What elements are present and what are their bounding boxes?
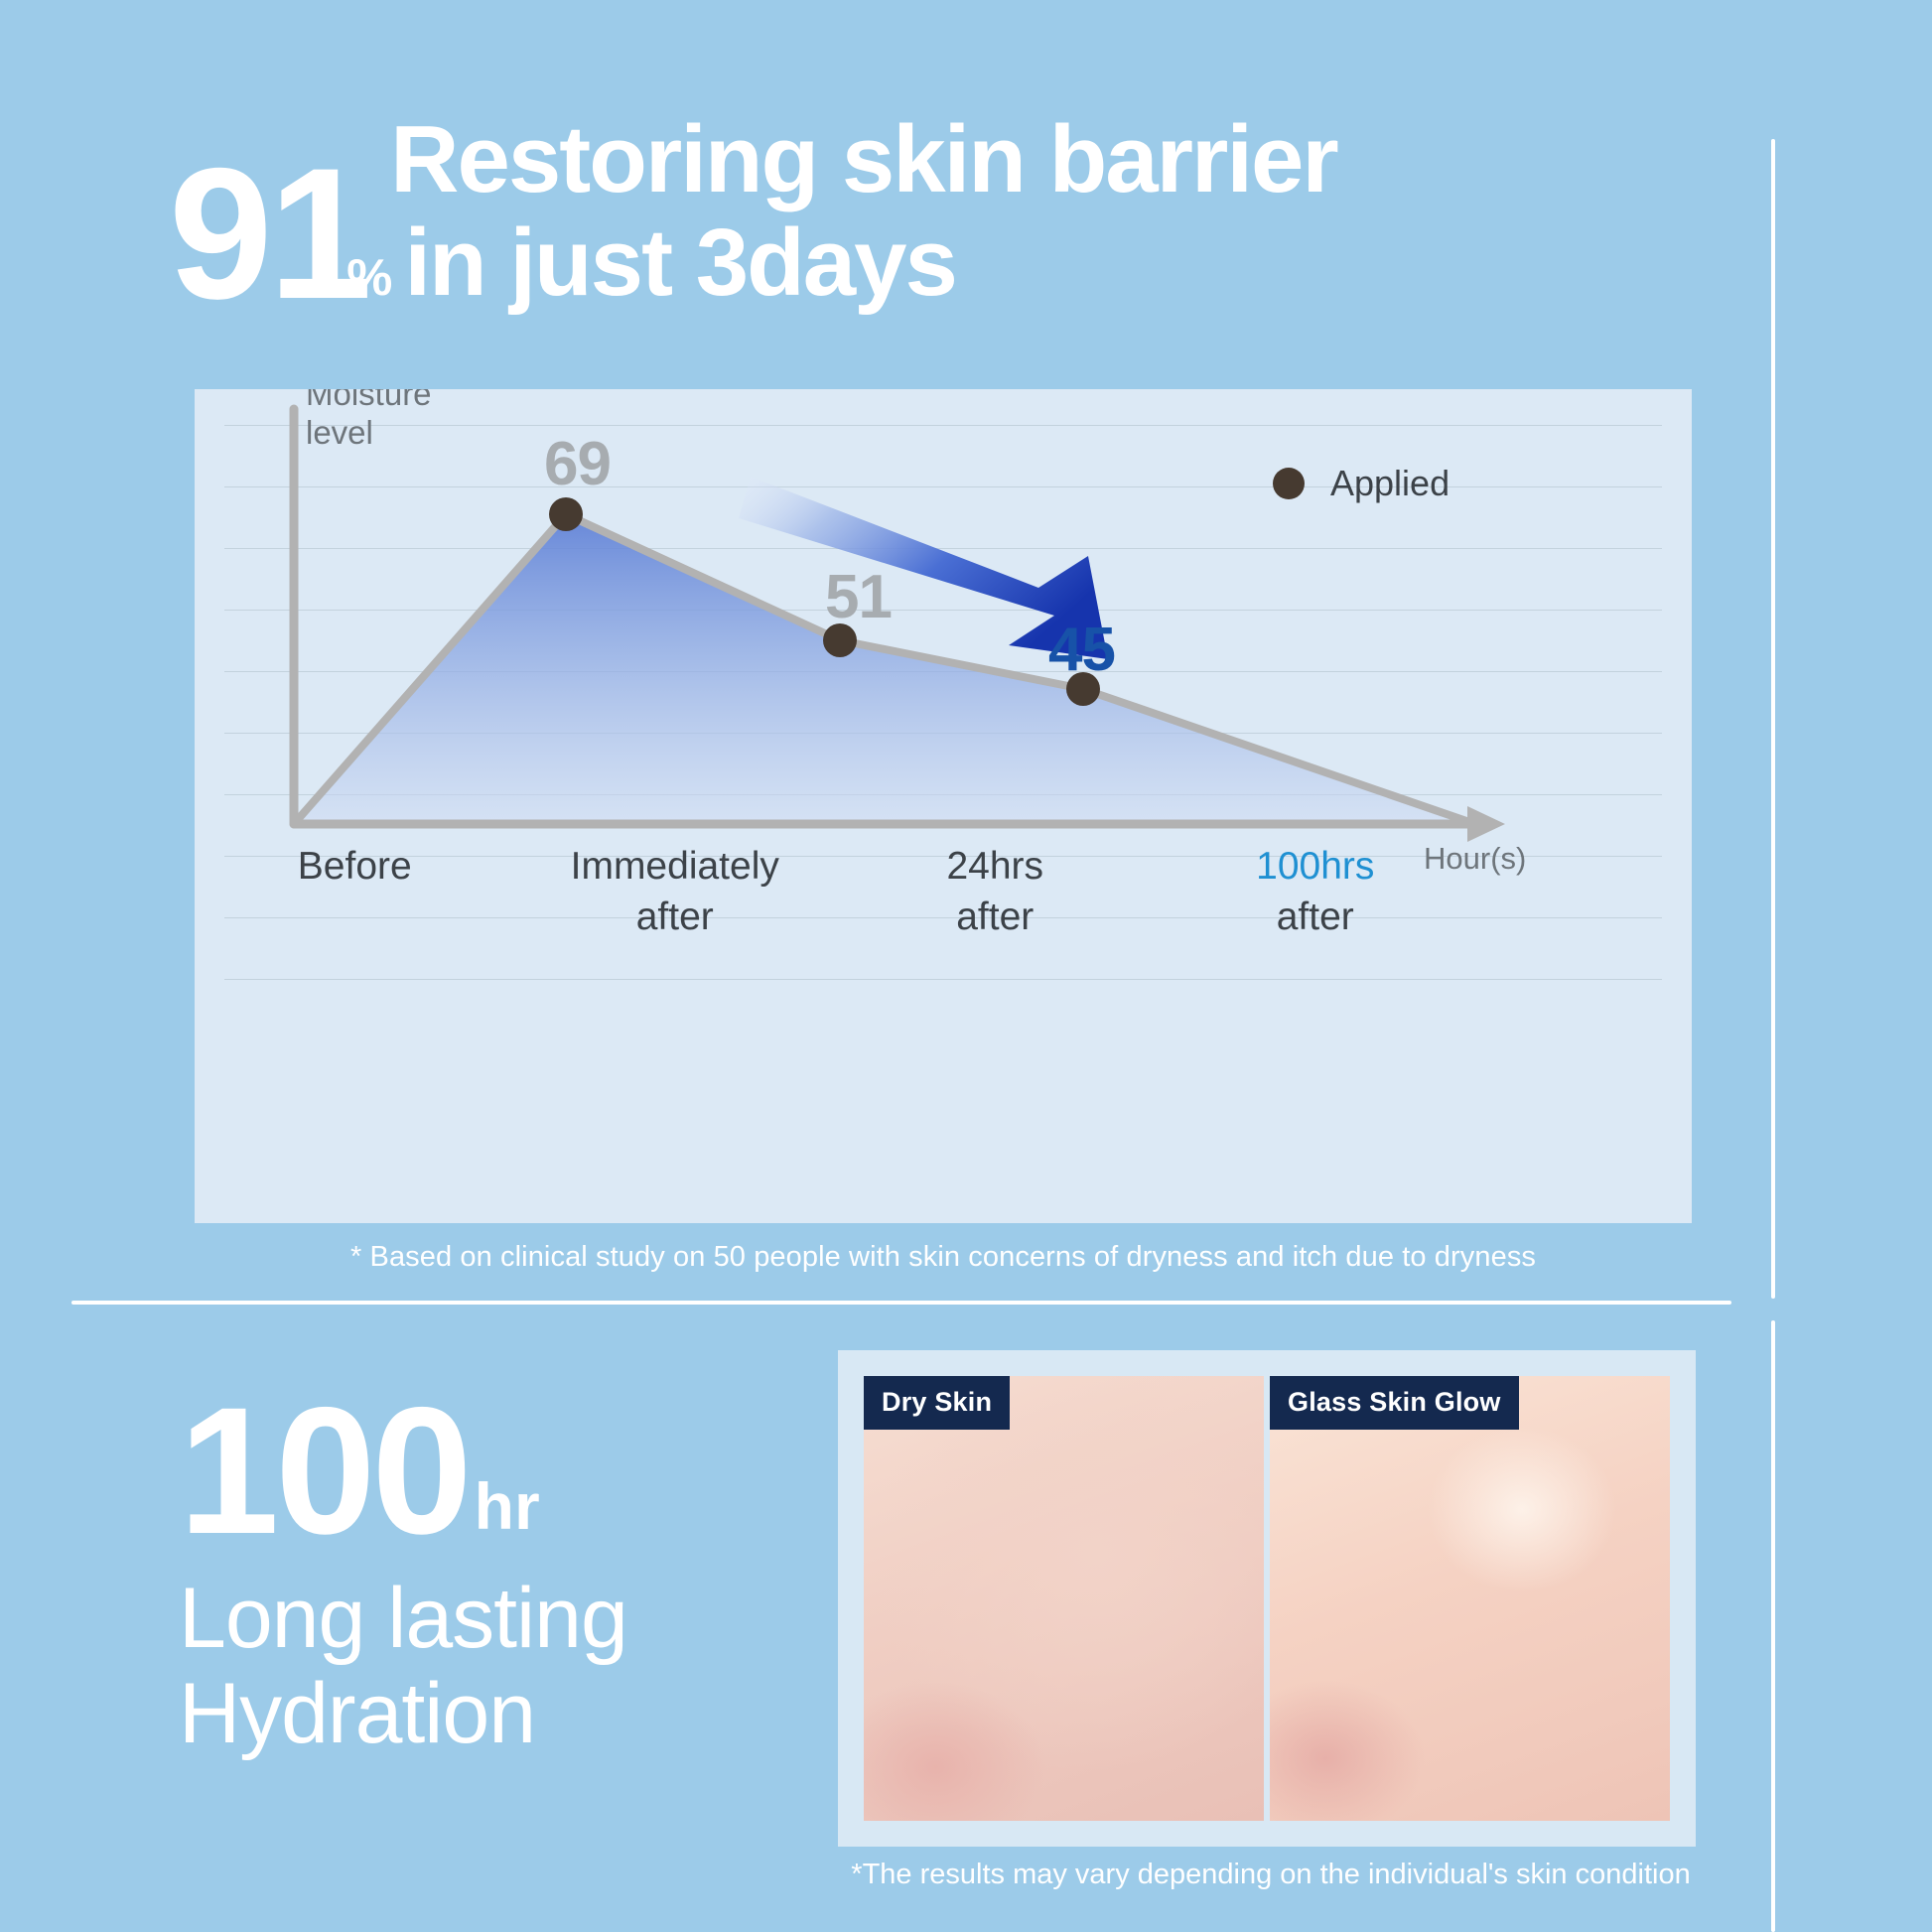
- x-label-100hrs-after: 100hrs after: [1156, 841, 1476, 943]
- data-label-24hrs-after: 51: [825, 562, 892, 632]
- chart-x-axis-arrowhead: [1467, 806, 1505, 842]
- photo-dry-skin: Dry Skin: [864, 1376, 1264, 1821]
- chart-legend: Applied: [1273, 463, 1449, 504]
- before-after-comparison: Dry Skin Glass Skin Glow: [838, 1350, 1696, 1847]
- hero-headline: 91 Restoring skin barrier % in just 3day…: [169, 111, 1718, 320]
- data-point-immediately-after: [549, 497, 583, 531]
- hydration-claim-line-1: Long lasting: [179, 1571, 627, 1666]
- hydration-claim: 100 hr Long lasting Hydration: [179, 1390, 627, 1761]
- chart-plot-area: [195, 389, 1692, 1223]
- chart-footnote: * Based on clinical study on 50 people w…: [195, 1241, 1692, 1274]
- data-point-100hrs-after: [1066, 672, 1100, 706]
- chart-x-axis-labels: Before Immediately after 24hrs after 100…: [195, 841, 1475, 943]
- hydration-claim-number-row: 100 hr: [179, 1390, 627, 1553]
- photo-footnote: *The results may vary depending on the i…: [695, 1859, 1847, 1891]
- divider-vertical-bottom: [1771, 1320, 1775, 1932]
- legend-dot-icon: [1273, 468, 1305, 499]
- chart-y-axis-title: Moisture level: [306, 389, 432, 453]
- photo-badge-dry-skin: Dry Skin: [864, 1376, 1010, 1430]
- divider-horizontal-mid: [71, 1301, 1731, 1305]
- hero-headline-line-2-row: % in just 3days: [390, 214, 1337, 312]
- before-after-photo-row: Dry Skin Glass Skin Glow: [864, 1376, 1670, 1821]
- hydration-claim-number: 100: [179, 1390, 469, 1553]
- hero-percent-sign: %: [346, 252, 392, 304]
- data-label-immediately-after: 69: [544, 429, 611, 499]
- data-point-24hrs-after: [823, 623, 857, 657]
- hero-headline-line-1: Restoring skin barrier: [390, 111, 1337, 208]
- hero-headline-line-2: in just 3days: [404, 214, 956, 312]
- x-label-immediately-after: Immediately after: [515, 841, 836, 943]
- x-label-before: Before: [195, 841, 515, 943]
- moisture-chart-panel: Moisture level Hour(s) 69 51 45 Applied …: [195, 389, 1692, 1223]
- photo-glass-skin-glow: Glass Skin Glow: [1270, 1376, 1670, 1821]
- hero-stat-number: 91: [169, 148, 368, 320]
- hydration-claim-unit: hr: [475, 1473, 540, 1553]
- hero-headline-text: Restoring skin barrier % in just 3days: [390, 111, 1337, 320]
- legend-label-applied: Applied: [1330, 463, 1449, 504]
- photo-badge-glass-skin-glow: Glass Skin Glow: [1270, 1376, 1519, 1430]
- x-label-24hrs-after: 24hrs after: [835, 841, 1156, 943]
- hero-headline-row: 91 Restoring skin barrier % in just 3day…: [169, 111, 1718, 320]
- divider-vertical-top: [1771, 139, 1775, 1299]
- hydration-claim-line-2: Hydration: [179, 1666, 627, 1761]
